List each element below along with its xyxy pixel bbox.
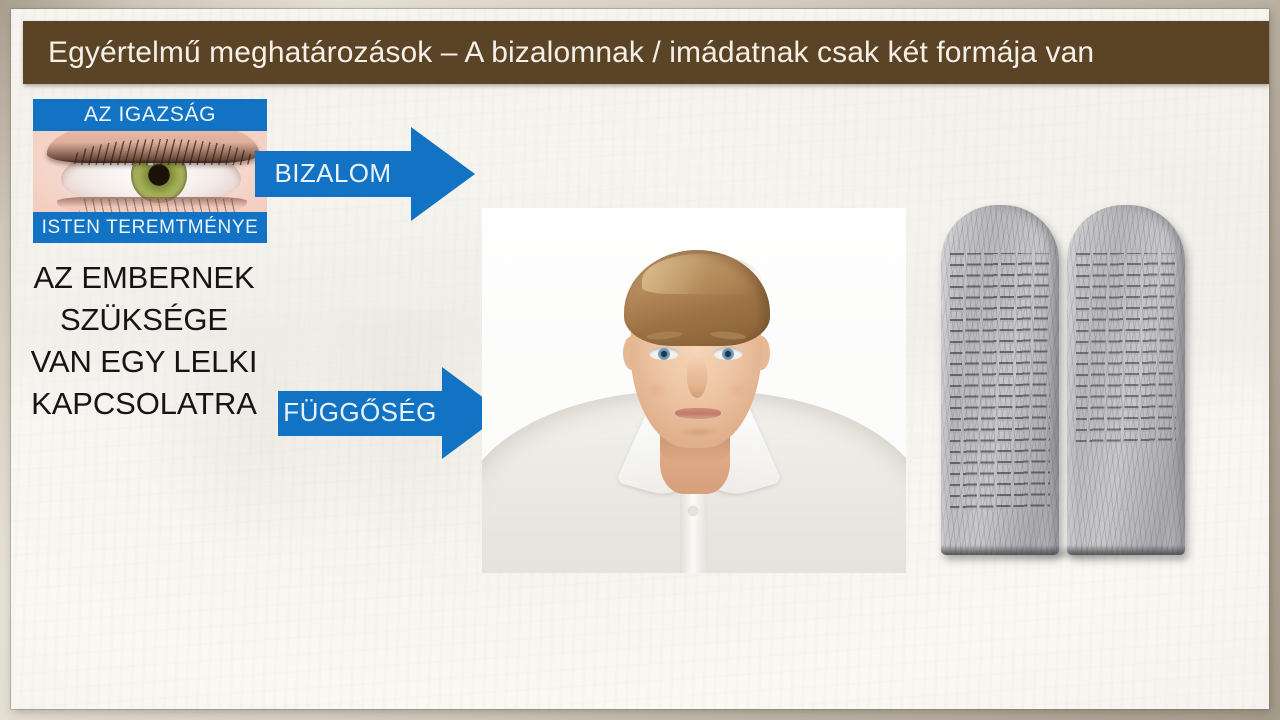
portrait-shirt-button <box>689 507 697 515</box>
arrow-fuggoseg-label: FÜGGŐSÉG <box>278 391 442 436</box>
slide-canvas: Egyértelmű meghatározások – A bizalomnak… <box>11 9 1269 709</box>
eye-card-bottom-banner: ISTEN TEREMTMÉNYE <box>33 212 267 243</box>
page-title: Egyértelmű meghatározások – A bizalomnak… <box>23 36 1094 70</box>
stone-tablets-image <box>941 205 1185 571</box>
portrait-chin-shadow <box>668 424 728 440</box>
portrait-cheek-right <box>720 378 754 402</box>
man-portrait-image <box>482 208 906 573</box>
slide-root: Egyértelmű meghatározások – A bizalomnak… <box>0 0 1280 720</box>
arrow-bizalom-label: BIZALOM <box>255 151 411 197</box>
portrait-pupil-right <box>722 348 734 360</box>
caption-line-1: AZ EMBERNEK <box>19 257 269 299</box>
stone-tablet-left <box>941 205 1059 555</box>
caption-line-3: VAN EGY LELKI <box>19 341 269 383</box>
portrait-pupil-left <box>658 348 670 360</box>
portrait-shirt-placket <box>680 483 708 573</box>
caption-line-2: SZÜKSÉGE <box>19 299 269 341</box>
tablet-left-engraving <box>950 253 1050 515</box>
tablet-right-engraving <box>1076 253 1176 443</box>
arrow-fuggoseg: FÜGGŐSÉG <box>278 367 504 459</box>
tablet-left-base-edge <box>941 545 1059 555</box>
portrait-nose <box>687 356 707 398</box>
slide-title-bar: Egyértelmű meghatározások – A bizalomnak… <box>23 21 1269 84</box>
portrait-cheek-left <box>640 378 674 402</box>
arrow-bizalom: BIZALOM <box>255 127 475 221</box>
left-caption-text: AZ EMBERNEK SZÜKSÉGE VAN EGY LELKI KAPCS… <box>19 257 269 426</box>
truth-eye-card: AZ IGAZSÁG ISTEN TEREMTMÉNYE <box>33 99 267 243</box>
portrait-mouth <box>675 408 721 419</box>
arrow-bizalom-head-icon <box>411 127 475 221</box>
stone-tablet-right <box>1067 205 1185 555</box>
tablet-right-base-edge <box>1067 545 1185 555</box>
caption-line-4: KAPCSOLATRA <box>19 383 269 425</box>
eye-card-top-banner: AZ IGAZSÁG <box>33 99 267 131</box>
